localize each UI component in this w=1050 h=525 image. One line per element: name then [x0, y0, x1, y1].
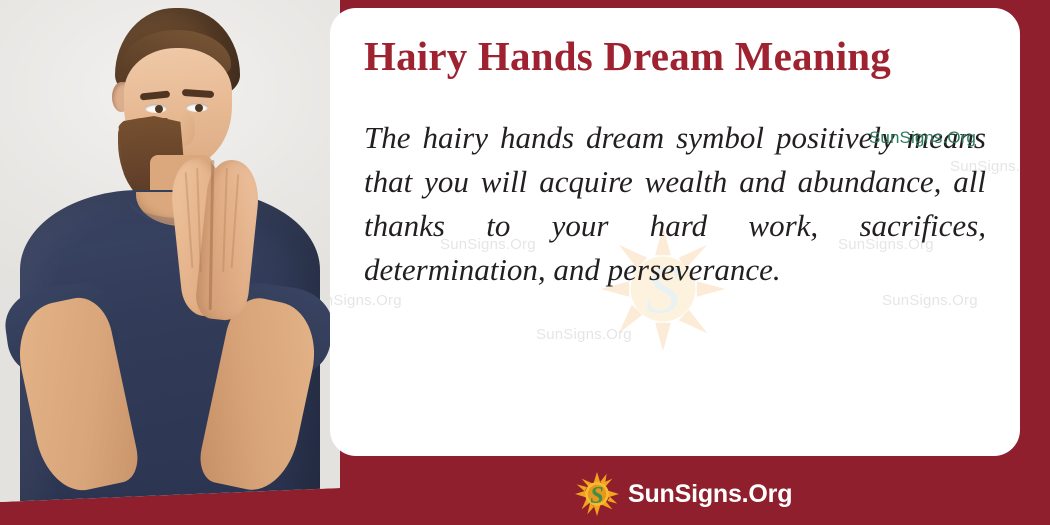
- watermark-text: SunSigns.Org: [330, 292, 402, 309]
- sunsigns-logo[interactable]: S SunSigns.Org: [575, 472, 792, 516]
- content-card: S SunSigns.Org SunSigns.Org SunSigns.Org…: [330, 8, 1020, 456]
- praying-man-photo: [0, 0, 340, 502]
- dream-meaning-banner: S SunSigns.Org SunSigns.Org SunSigns.Org…: [0, 0, 1050, 525]
- svg-text:S: S: [590, 482, 604, 509]
- sunsigns-logo-text: SunSigns.Org: [628, 480, 792, 509]
- page-title: Hairy Hands Dream Meaning: [364, 34, 990, 80]
- sun-logo-icon: S: [575, 472, 619, 516]
- title-watermark-text: SunSigns.Org: [869, 128, 976, 148]
- eye-right-shape: [186, 103, 208, 112]
- eye-left-shape: [145, 104, 167, 113]
- watermark-text: SunSigns.Org: [536, 326, 632, 343]
- watermark-text: SunSigns.Org: [882, 292, 978, 309]
